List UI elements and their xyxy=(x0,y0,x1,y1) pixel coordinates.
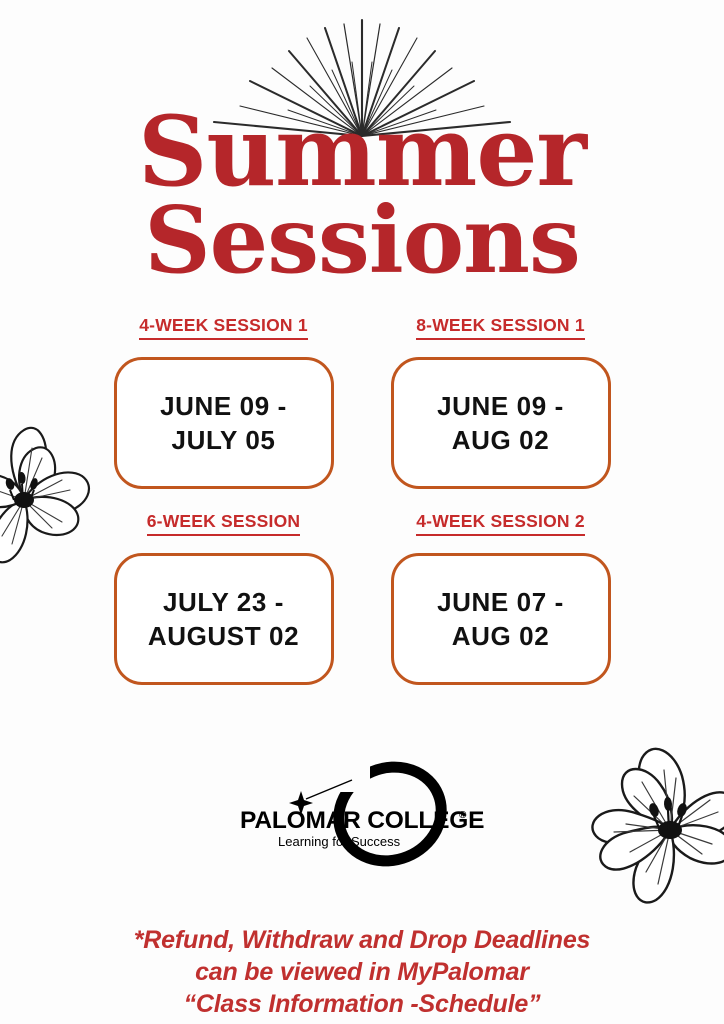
session-date-line-1: JUNE 09 - xyxy=(160,389,287,423)
session-date-line-2: AUG 02 xyxy=(452,423,550,457)
logo-wordmark: PALOMAR COLLEGE xyxy=(240,807,484,834)
palomar-college-logo: PALOMAR COLLEGE ® Learning for Success xyxy=(240,758,484,870)
session-date-line-1: JUNE 09 - xyxy=(437,389,564,423)
session-cell: 4-WEEK SESSION 2 JUNE 07 - AUG 02 xyxy=(391,511,611,685)
registered-mark-icon: ® xyxy=(459,810,467,821)
logo-tagline: Learning for Success xyxy=(278,834,401,849)
session-card[interactable]: JUNE 09 - JULY 05 xyxy=(114,357,334,489)
session-heading: 4-WEEK SESSION 1 xyxy=(139,315,308,340)
title-line-summer: Summer xyxy=(0,108,724,196)
footer-note: *Refund, Withdraw and Drop Deadlines can… xyxy=(0,925,724,1020)
session-date-line-2: AUGUST 02 xyxy=(148,619,299,653)
session-date-line-1: JUNE 07 - xyxy=(437,585,564,619)
session-date-line-2: JULY 05 xyxy=(172,423,276,457)
session-grid: 4-WEEK SESSION 1 JUNE 09 - JULY 05 8-WEE… xyxy=(0,315,724,707)
flower-stamens xyxy=(648,797,689,839)
session-date-line-2: AUG 02 xyxy=(452,619,550,653)
flower-illustration-right xyxy=(572,712,724,912)
title-line-sessions: Sessions xyxy=(0,198,724,283)
session-cell: 6-WEEK SESSION JULY 23 - AUGUST 02 xyxy=(114,511,334,685)
session-card[interactable]: JUNE 07 - AUG 02 xyxy=(391,553,611,685)
session-card[interactable]: JUNE 09 - AUG 02 xyxy=(391,357,611,489)
session-heading: 4-WEEK SESSION 2 xyxy=(416,511,585,536)
footer-line-3: “Class Information -Schedule” xyxy=(0,989,724,1021)
session-date-line-1: JULY 23 - xyxy=(163,585,284,619)
footer-line-1: *Refund, Withdraw and Drop Deadlines xyxy=(0,925,724,957)
session-row: 6-WEEK SESSION JULY 23 - AUGUST 02 4-WEE… xyxy=(0,511,724,685)
page-title: Summer Sessions xyxy=(0,108,724,283)
session-heading: 6-WEEK SESSION xyxy=(147,511,301,536)
footer-line-2: can be viewed in MyPalomar xyxy=(0,957,724,989)
session-cell: 8-WEEK SESSION 1 JUNE 09 - AUG 02 xyxy=(391,315,611,489)
session-heading: 8-WEEK SESSION 1 xyxy=(416,315,585,340)
session-row: 4-WEEK SESSION 1 JUNE 09 - JULY 05 8-WEE… xyxy=(0,315,724,489)
session-card[interactable]: JULY 23 - AUGUST 02 xyxy=(114,553,334,685)
session-cell: 4-WEEK SESSION 1 JUNE 09 - JULY 05 xyxy=(114,315,334,489)
